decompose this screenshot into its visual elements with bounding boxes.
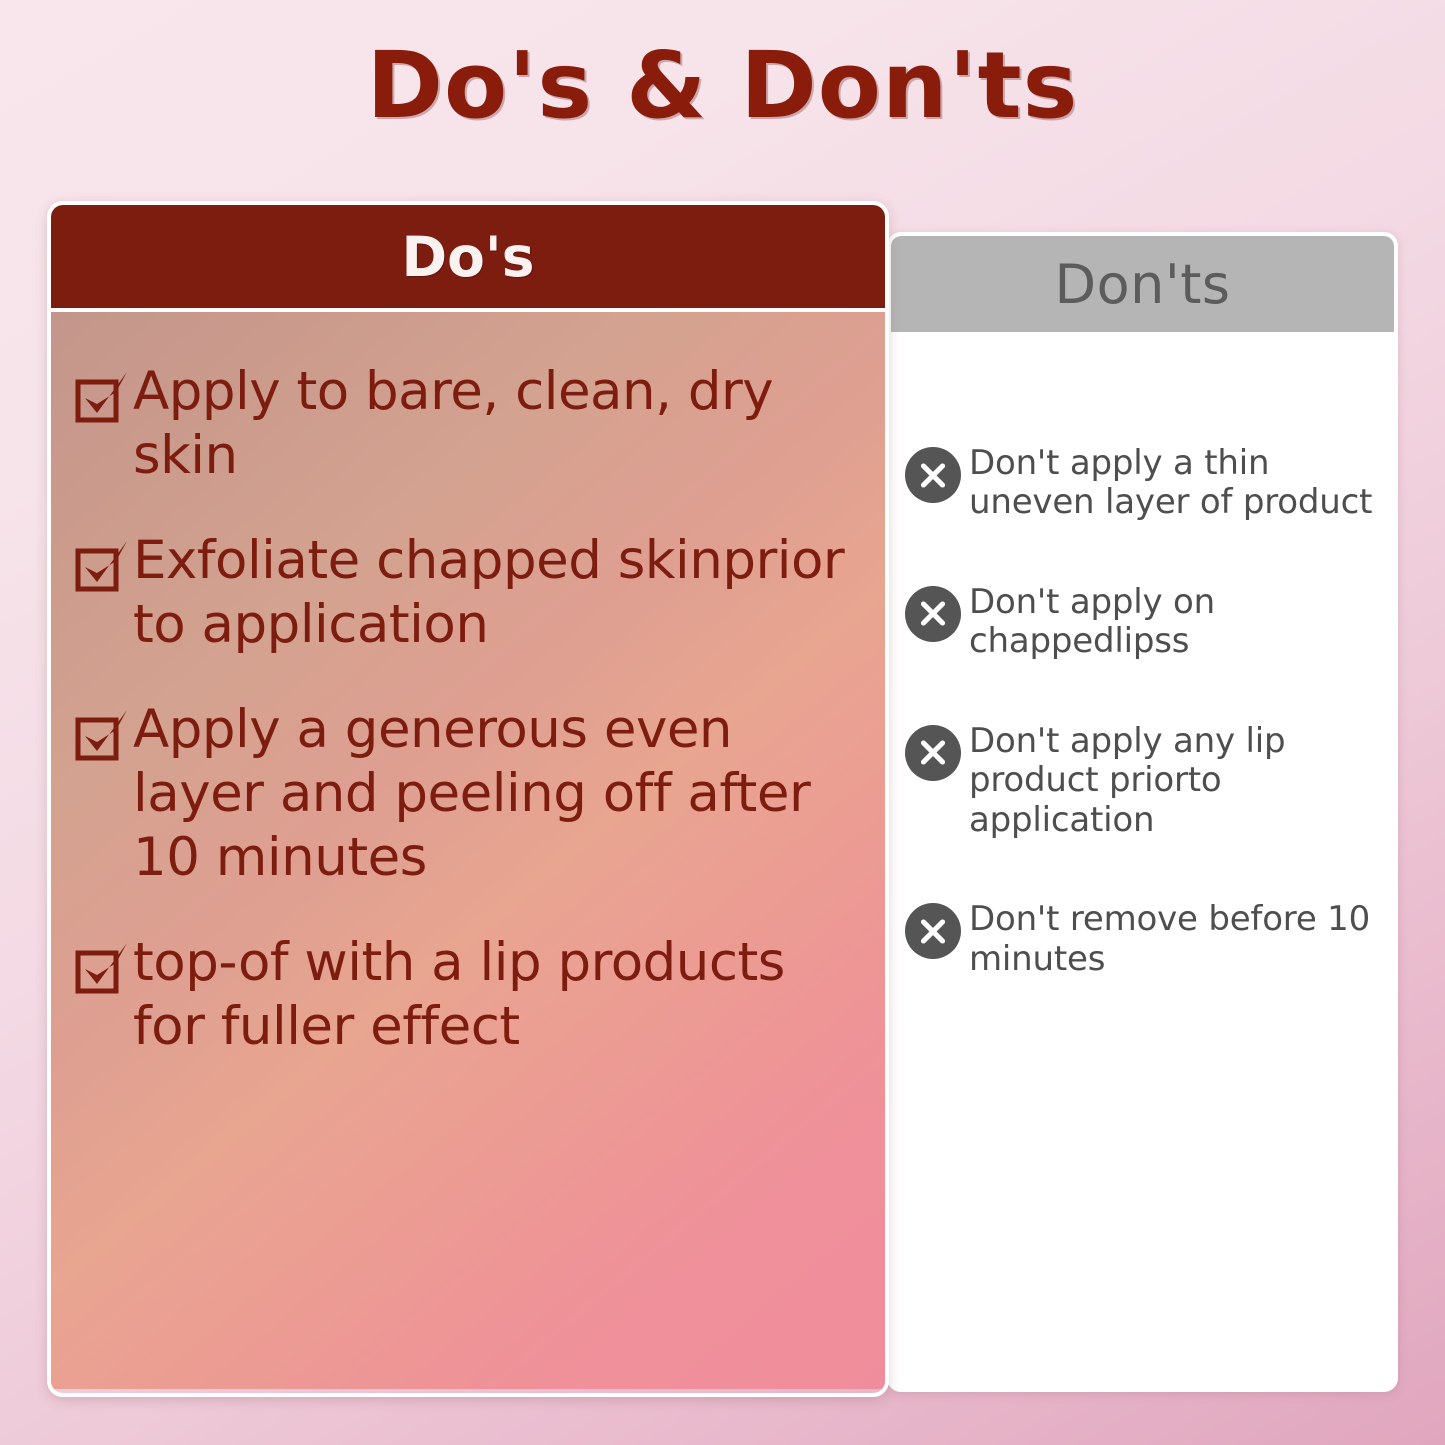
page-title: Do's & Don'ts [367,38,1079,135]
donts-list: Don't apply a thin uneven layer of produ… [891,332,1394,979]
dos-card-header: Do's [51,205,885,308]
list-item-label: top-of with a lip products for fuller ef… [133,931,851,1058]
x-circle-icon [905,725,961,781]
list-item: Apply to bare, clean, dry skin [75,360,851,487]
checkbox-checked-icon [75,941,129,995]
dos-card: Do's Apply to bare, clean, dry skin Exfo… [47,201,889,1397]
list-item-label: Don't apply a thin uneven layer of produ… [969,444,1380,523]
list-item: Exfoliate chapped skinprior to applicati… [75,529,851,656]
x-circle-icon [905,586,961,642]
page-title-wrap: Do's & Don'ts [0,38,1445,135]
checkbox-checked-icon [75,539,129,593]
list-item-label: Don't apply any lip product priorto appl… [969,722,1380,840]
donts-card-header: Don'ts [891,236,1394,332]
x-circle-icon [905,903,961,959]
list-item: top-of with a lip products for fuller ef… [75,931,851,1058]
donts-header-label: Don'ts [1055,253,1231,316]
list-item: Apply a generous even layer and peeling … [75,698,851,889]
checkbox-checked-icon [75,370,129,424]
checkbox-checked-icon [75,708,129,762]
list-item: Don't remove before 10 minutes [905,900,1380,979]
list-item-label: Apply to bare, clean, dry skin [133,360,851,487]
list-item: Don't apply on chappedlipss [905,583,1380,662]
x-circle-icon [905,447,961,503]
donts-card: Don'ts Don't apply a thin uneven layer o… [887,232,1398,1392]
list-item-label: Exfoliate chapped skinprior to applicati… [133,529,851,656]
list-item-label: Apply a generous even layer and peeling … [133,698,851,889]
list-item-label: Don't remove before 10 minutes [969,900,1380,979]
list-item: Don't apply any lip product priorto appl… [905,722,1380,840]
list-item: Don't apply a thin uneven layer of produ… [905,444,1380,523]
list-item-label: Don't apply on chappedlipss [969,583,1380,662]
dos-header-label: Do's [401,225,534,289]
dos-list: Apply to bare, clean, dry skin Exfoliate… [51,308,885,1389]
